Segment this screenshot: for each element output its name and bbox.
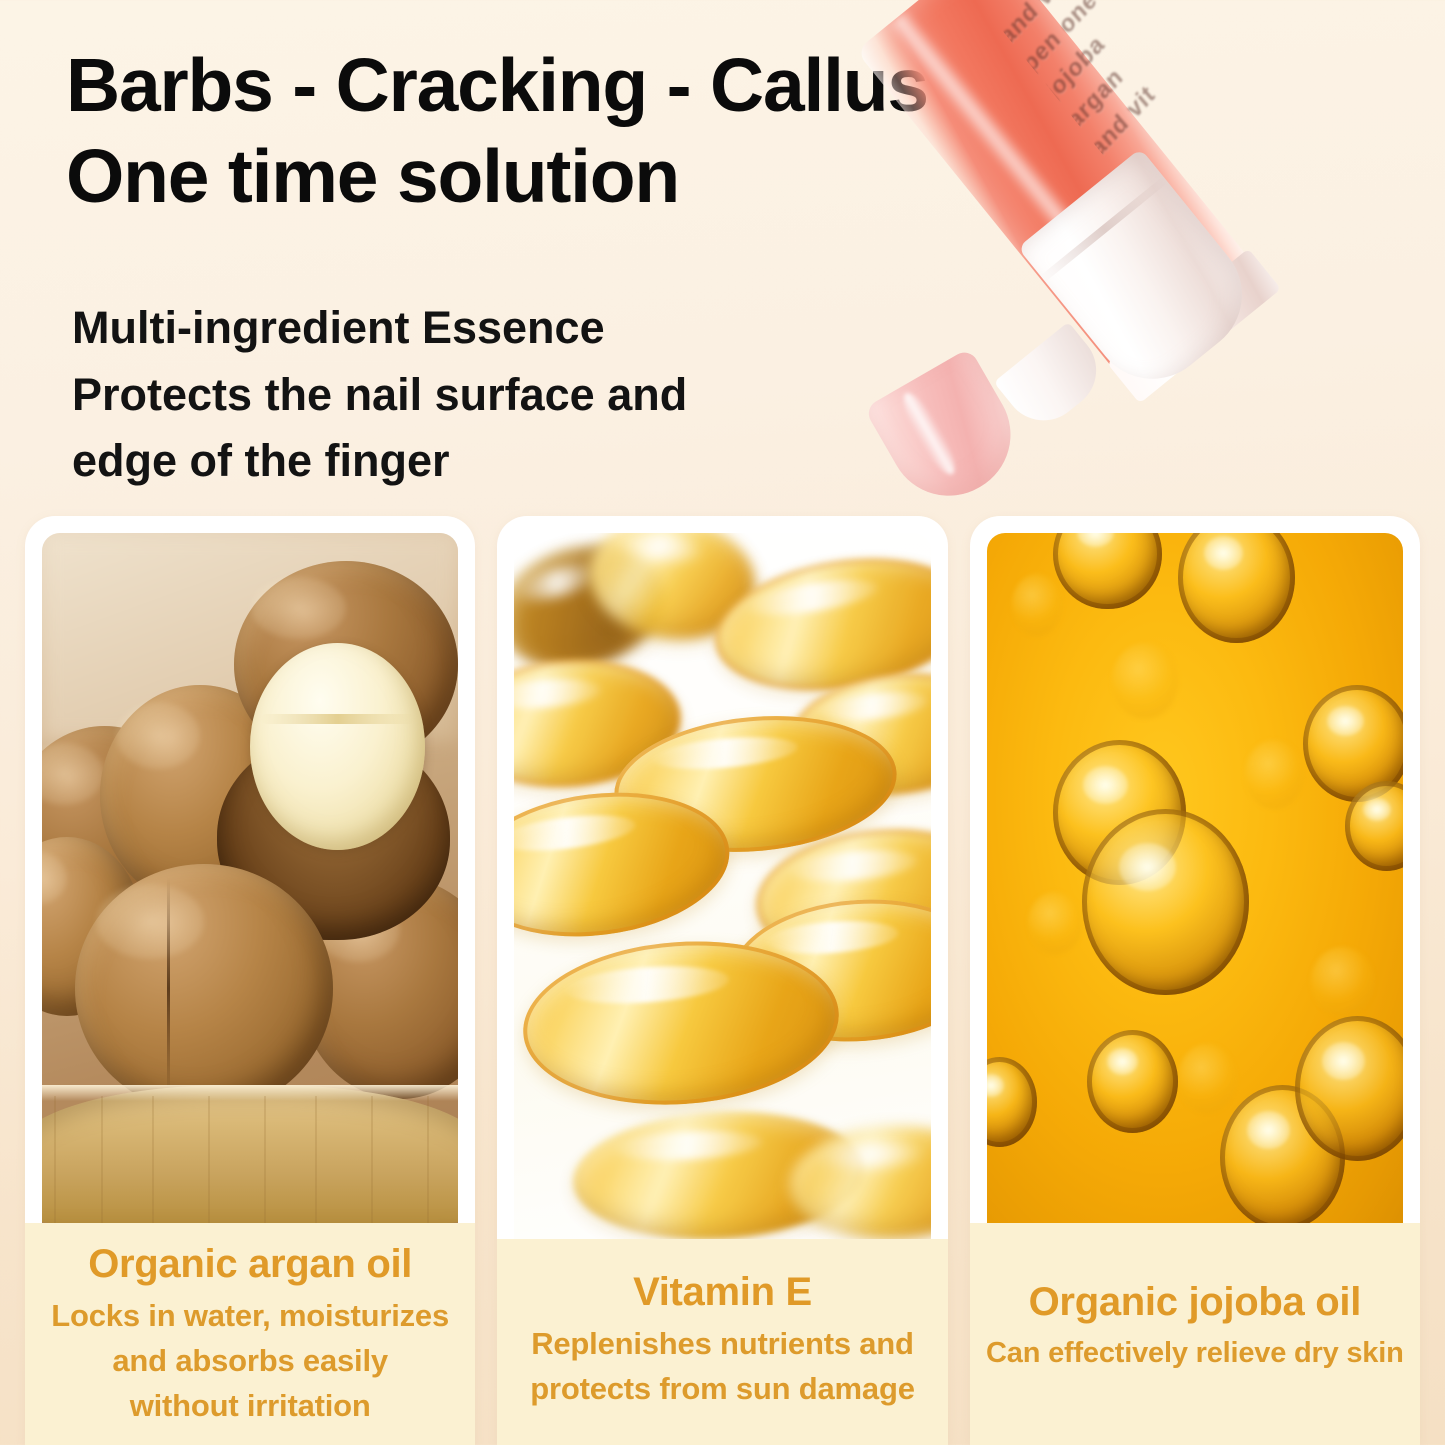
oil-bubble xyxy=(1012,574,1062,636)
oil-bubble xyxy=(1311,947,1373,1016)
subheadline-line-2: Protects the nail surface and xyxy=(72,362,832,429)
card-desc-line-1: Can effectively relieve dry skin xyxy=(980,1332,1410,1374)
card-desc-line-2: and absorbs easily xyxy=(35,1339,465,1384)
ingredient-card-vitamin-e[interactable]: Vitamin E Replenishes nutrients and prot… xyxy=(497,516,947,1445)
oil-bubble-large xyxy=(1082,809,1249,995)
oil-bubble xyxy=(1245,740,1303,809)
bowl-grain xyxy=(315,1096,317,1223)
card-title: Organic argan oil xyxy=(35,1241,465,1288)
oil-bubble xyxy=(987,1057,1037,1147)
pen-brush-tip xyxy=(864,347,1033,517)
card-title: Organic jojoba oil xyxy=(980,1279,1410,1326)
page-headline: Barbs - Cracking - Callus One time solut… xyxy=(66,48,1096,214)
headline-line-2: One time solution xyxy=(66,139,1096,214)
bowl-grain xyxy=(101,1096,103,1223)
ingredient-cards: Organic argan oil Locks in water, moistu… xyxy=(0,516,1445,1445)
oil-bubble xyxy=(1178,533,1295,643)
headline-line-1: Barbs - Cracking - Callus xyxy=(66,48,1096,123)
kernel-seam xyxy=(261,714,415,724)
vitamin-e-caption: Vitamin E Replenishes nutrients and prot… xyxy=(497,1239,947,1445)
oil-bubble xyxy=(1178,1044,1236,1113)
bowl-grain xyxy=(371,1096,373,1223)
pen-collar xyxy=(1107,249,1281,404)
jojoba-oil-caption: Organic jojoba oil Can effectively relie… xyxy=(970,1223,1420,1445)
pen-label-line-5: and vit xyxy=(1085,17,1220,163)
bowl-grain xyxy=(54,1096,56,1223)
card-title: Vitamin E xyxy=(507,1269,937,1316)
oil-bubble xyxy=(1028,892,1082,954)
bowl-grain xyxy=(152,1096,154,1223)
subheadline-line-3: edge of the finger xyxy=(72,428,832,495)
vitamin-e-photo xyxy=(514,533,930,1239)
page-subheadline: Multi-ingredient Essence Protects the na… xyxy=(72,295,832,495)
oil-bubble xyxy=(1087,1030,1179,1134)
card-desc-line-2: protects from sun damage xyxy=(507,1367,937,1412)
pen-label-line-1: and vitamin xyxy=(995,0,1130,51)
gel-capsules-image xyxy=(514,533,930,1239)
ingredient-card-argan-oil[interactable]: Organic argan oil Locks in water, moistu… xyxy=(25,516,475,1445)
nut-crack-line xyxy=(167,878,170,1099)
argan-oil-photo xyxy=(42,533,458,1223)
macadamia-nuts-image xyxy=(42,533,458,1223)
subheadline-line-1: Multi-ingredient Essence xyxy=(72,295,832,362)
nut-shape-front xyxy=(75,864,333,1112)
pen-neck xyxy=(994,322,1113,437)
card-desc-line-1: Locks in water, moisturizes xyxy=(35,1294,465,1339)
jojoba-oil-photo xyxy=(987,533,1403,1223)
card-description: Locks in water, moisturizes and absorbs … xyxy=(35,1294,465,1429)
bowl-grain xyxy=(427,1096,429,1223)
bowl-grain xyxy=(208,1096,210,1223)
oil-bubble xyxy=(1053,533,1161,609)
bowl-grain xyxy=(264,1096,266,1223)
oil-bubble xyxy=(1112,643,1179,719)
card-desc-line-3: without irritation xyxy=(35,1384,465,1429)
card-description: Replenishes nutrients and protects from … xyxy=(507,1322,937,1412)
macadamia-kernel xyxy=(250,643,425,850)
oil-bubbles-image xyxy=(987,533,1403,1223)
card-desc-line-1: Replenishes nutrients and xyxy=(507,1322,937,1367)
argan-oil-caption: Organic argan oil Locks in water, moistu… xyxy=(25,1223,475,1445)
wooden-bowl xyxy=(42,1085,458,1223)
card-description: Can effectively relieve dry skin xyxy=(980,1332,1410,1374)
ingredient-card-jojoba-oil[interactable]: Organic jojoba oil Can effectively relie… xyxy=(970,516,1420,1445)
